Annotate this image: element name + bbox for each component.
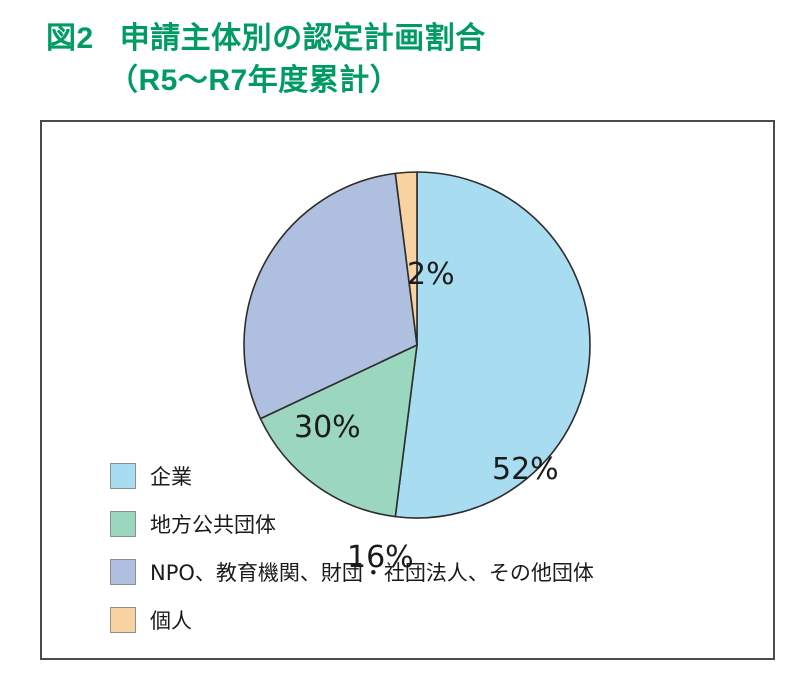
legend-item-npo: NPO、教育機関、財団・社団法人、その他団体 (110, 548, 750, 596)
chart-legend: 企業 地方公共団体 NPO、教育機関、財団・社団法人、その他団体 個人 (110, 452, 750, 644)
legend-swatch-individual (110, 607, 136, 633)
legend-label-corporate: 企業 (150, 461, 192, 491)
pie-label-npo: 30% (294, 410, 361, 445)
legend-label-npo: NPO、教育機関、財団・社団法人、その他団体 (150, 557, 594, 587)
chart-frame: 52% 30% 16% 2% 企業 地方公共団体 NPO、教育機関、財団・社団法… (40, 120, 775, 660)
figure-number: 図2 (46, 22, 94, 55)
legend-swatch-npo (110, 559, 136, 585)
legend-swatch-corporate (110, 463, 136, 489)
figure-title-line-2: （R5〜R7年度累計） (0, 60, 800, 102)
legend-item-local-government: 地方公共団体 (110, 500, 750, 548)
legend-label-local-government: 地方公共団体 (150, 509, 276, 539)
legend-item-individual: 個人 (110, 596, 750, 644)
legend-item-corporate: 企業 (110, 452, 750, 500)
figure-title-text: 申請主体別の認定計画割合 (120, 22, 486, 55)
legend-swatch-local-government (110, 511, 136, 537)
legend-label-individual: 個人 (150, 605, 192, 635)
pie-label-individual: 2% (407, 257, 455, 292)
figure-title-line-1: 図2申請主体別の認定計画割合 (0, 18, 800, 60)
figure-title: 図2申請主体別の認定計画割合 （R5〜R7年度累計） (0, 18, 800, 102)
